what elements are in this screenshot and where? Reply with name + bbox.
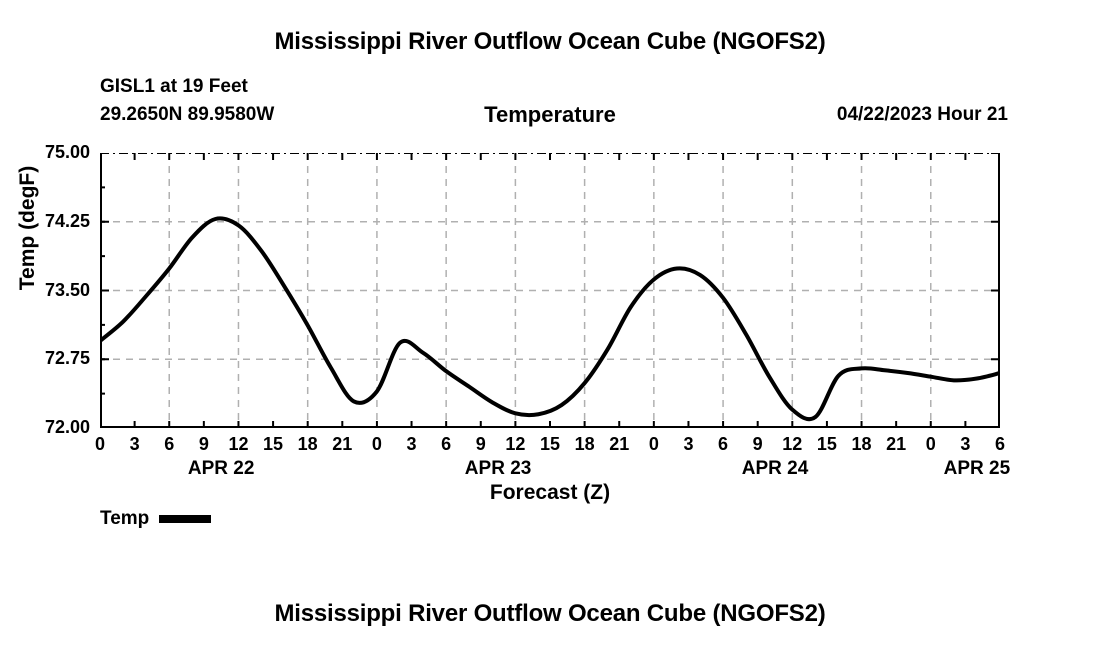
chart-plot-area (100, 153, 1000, 428)
y-tick-label: 72.75 (0, 348, 90, 369)
chart-axis-frame (100, 153, 1000, 428)
x-tick-label: 6 (980, 434, 1020, 455)
legend-label-temp: Temp (100, 508, 149, 530)
x-axis-title: Forecast (Z) (0, 481, 1100, 505)
x-day-label: APR 22 (141, 458, 301, 480)
chart-legend: Temp (100, 508, 211, 530)
y-tick-label: 73.50 (0, 280, 90, 301)
legend-swatch-temp (159, 515, 211, 523)
x-day-label: APR 25 (897, 458, 1057, 480)
page-title-bottom: Mississippi River Outflow Ocean Cube (NG… (0, 600, 1100, 628)
x-day-label: APR 23 (418, 458, 578, 480)
model-run-datetime-label: 04/22/2023 Hour 21 (837, 104, 1008, 126)
y-tick-label: 74.25 (0, 211, 90, 232)
station-name-label: GISL1 at 19 Feet (100, 76, 248, 98)
x-day-label: APR 24 (695, 458, 855, 480)
page-title-top: Mississippi River Outflow Ocean Cube (NG… (0, 28, 1100, 56)
y-tick-label: 75.00 (0, 142, 90, 163)
y-tick-label: 72.00 (0, 417, 90, 438)
